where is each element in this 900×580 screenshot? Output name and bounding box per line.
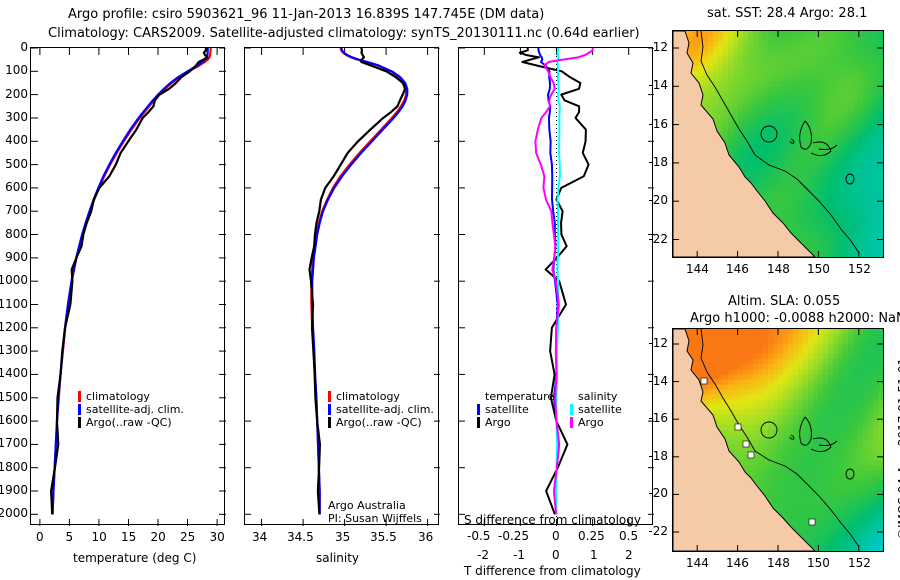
salinity-xtick-35-5: 35.5 <box>370 530 397 544</box>
legend-label-climatology: climatology <box>86 390 150 403</box>
legend-swatch-satellite-adj-sal <box>328 404 331 415</box>
map-sst-xtick-144: 144 <box>686 262 709 276</box>
salinity-xtick-35: 35 <box>335 530 350 544</box>
map-sst-panel <box>672 30 884 258</box>
difference-t-xtick-1: 1 <box>590 548 598 562</box>
temperature-xtick-5: 5 <box>66 530 74 544</box>
difference-s-xtick-0-5: 0.5 <box>619 529 638 543</box>
difference-t-xtick--2: -2 <box>477 548 489 562</box>
legend-label-climatology-sal: climatology <box>336 390 400 403</box>
map-sst-xtick-152: 152 <box>848 262 871 276</box>
temperature-axis-label: temperature (deg C) <box>73 551 196 565</box>
map-sla-xtick-148: 148 <box>767 556 790 570</box>
temperature-xtick-20: 20 <box>151 530 166 544</box>
temperature-xtick-0: 0 <box>36 530 44 544</box>
legend-swatch-temp-satellite <box>477 404 480 415</box>
map-sla-svg <box>673 329 883 551</box>
difference-s-xtick-0: 0 <box>552 529 560 543</box>
legend-swatch-climatology-sal <box>328 391 331 402</box>
header-line-2: Climatology: CARS2009. Satellite-adjuste… <box>48 26 640 41</box>
map-sst-xtick-148: 148 <box>767 262 790 276</box>
legend-swatch-sal-argo <box>570 417 573 428</box>
temperature-xtick-30: 30 <box>210 530 225 544</box>
legend-swatch-climatology <box>78 391 81 402</box>
legend-item-satellite-adj-sal: satellite-adj. clim. <box>328 403 434 416</box>
map-sst-svg <box>673 31 883 257</box>
salinity-xtick-34: 34 <box>252 530 267 544</box>
legend-item-temp-satellite: satellite <box>477 403 554 416</box>
header-line-1: Argo profile: csiro 5903621_96 11-Jan-20… <box>68 7 544 22</box>
map-sla-panel <box>672 328 884 552</box>
legend-label-sal-argo: Argo <box>578 416 604 429</box>
legend-swatch-argo <box>78 417 81 428</box>
legend-group-title-salinity: salinity <box>578 390 622 403</box>
temperature-xtick-25: 25 <box>180 530 195 544</box>
difference-legend-salinity: salinity satellite Argo <box>570 390 622 429</box>
map-sla-xtick-146: 146 <box>726 556 749 570</box>
legend-label-satellite-adj-sal: satellite-adj. clim. <box>336 403 434 416</box>
legend-item-satellite-adj: satellite-adj. clim. <box>78 403 184 416</box>
annotation-line-1: Argo Australia <box>328 499 422 512</box>
legend-item-argo-sal: Argo(..raw -QC) <box>328 416 434 429</box>
legend-label-satellite-adj: satellite-adj. clim. <box>86 403 184 416</box>
difference-plot-svg <box>459 48 654 526</box>
temperature-xtick-10: 10 <box>92 530 107 544</box>
imos-credit: ©IMOS 04-Aug-2017 01:51:01 <box>896 358 900 540</box>
salinity-xtick-36: 36 <box>418 530 433 544</box>
legend-label-temp-argo: Argo <box>485 416 511 429</box>
legend-swatch-argo-sal <box>328 417 331 428</box>
map-sla-xtick-152: 152 <box>848 556 871 570</box>
difference-t-xtick-0: 0 <box>552 548 560 562</box>
temperature-xtick-15: 15 <box>121 530 136 544</box>
difference-salinity-axis-label: S difference from climatology <box>464 513 641 527</box>
legend-swatch-sal-satellite <box>570 404 573 415</box>
legend-label-argo: Argo(..raw -QC) <box>86 416 172 429</box>
map-sst-xtick-150: 150 <box>807 262 830 276</box>
map-sst-xtick-146: 146 <box>726 262 749 276</box>
legend-item-sal-satellite: satellite <box>570 403 622 416</box>
map-sla-xtick-150: 150 <box>807 556 830 570</box>
difference-s-xtick-0-25: 0.25 <box>578 529 605 543</box>
legend-label-temp-satellite: satellite <box>485 403 529 416</box>
salinity-legend: climatology satellite-adj. clim. Argo(..… <box>328 390 434 429</box>
difference-t-xtick-2: 2 <box>625 548 633 562</box>
difference-temperature-axis-label: T difference from climatology <box>464 564 641 578</box>
temperature-legend: climatology satellite-adj. clim. Argo(..… <box>78 390 184 429</box>
legend-swatch-temp-argo <box>477 417 480 428</box>
difference-t-xtick--1: -1 <box>513 548 525 562</box>
map-sla-title-line-1: Altim. SLA: 0.055 <box>728 294 840 309</box>
difference-s-xtick--0-25: -0.25 <box>498 529 529 543</box>
argo-australia-annotation: Argo Australia PI: Susan Wijffels <box>328 499 422 525</box>
legend-item-climatology: climatology <box>78 390 184 403</box>
map-sst-title: sat. SST: 28.4 Argo: 28.1 <box>707 6 867 21</box>
legend-group-title-temperature: temperature <box>485 390 554 403</box>
map-sla-xtick-144: 144 <box>686 556 709 570</box>
salinity-axis-label: salinity <box>316 551 359 565</box>
legend-item-temp-argo: Argo <box>477 416 554 429</box>
legend-item-sal-argo: Argo <box>570 416 622 429</box>
difference-legend-temperature: temperature satellite Argo <box>477 390 554 429</box>
legend-item-climatology-sal: climatology <box>328 390 434 403</box>
salinity-plot-svg <box>245 48 440 526</box>
map-sla-title-line-2: Argo h1000: -0.0088 h2000: NaN <box>690 311 900 326</box>
legend-label-argo-sal: Argo(..raw -QC) <box>336 416 422 429</box>
legend-item-argo: Argo(..raw -QC) <box>78 416 184 429</box>
temperature-plot-svg <box>31 48 226 526</box>
salinity-xtick-34-5: 34.5 <box>287 530 314 544</box>
difference-s-xtick--0-5: -0.5 <box>467 529 490 543</box>
legend-label-sal-satellite: satellite <box>578 403 622 416</box>
legend-swatch-satellite-adj <box>78 404 81 415</box>
annotation-line-2: PI: Susan Wijffels <box>328 512 422 525</box>
